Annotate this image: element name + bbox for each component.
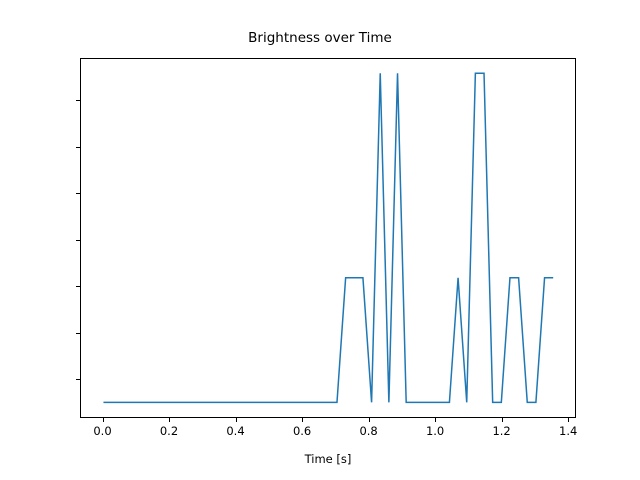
y-tick-mark [76,333,80,334]
x-tick-mark [568,418,569,422]
x-tick-mark [103,418,104,422]
x-tick-mark [302,418,303,422]
page-title: Brightness over Time [0,30,640,46]
brightness-line [103,73,553,402]
x-axis-label: Time [s] [80,452,576,466]
x-tick-label: 0.6 [272,424,332,438]
x-tick-label: 1.4 [538,424,598,438]
y-tick-mark [76,100,80,101]
x-tick-label: 1.0 [405,424,465,438]
x-tick-mark [369,418,370,422]
y-tick-mark [76,379,80,380]
x-tick-label: 0.2 [139,424,199,438]
x-tick-mark [435,418,436,422]
x-tick-mark [169,418,170,422]
y-tick-mark [76,147,80,148]
x-tick-mark [502,418,503,422]
y-tick-mark [76,240,80,241]
data-line-series [81,59,575,417]
matplotlib-figure: Brightness over Time Brightness Time [s]… [0,0,640,480]
y-tick-mark [76,286,80,287]
y-axis-label-wrapper: Brightness [0,0,6,360]
x-tick-label: 0.0 [73,424,133,438]
x-tick-label: 1.2 [472,424,532,438]
y-tick-mark [76,193,80,194]
x-tick-label: 0.4 [206,424,266,438]
plot-area [80,58,576,418]
x-tick-label: 0.8 [339,424,399,438]
x-tick-mark [236,418,237,422]
